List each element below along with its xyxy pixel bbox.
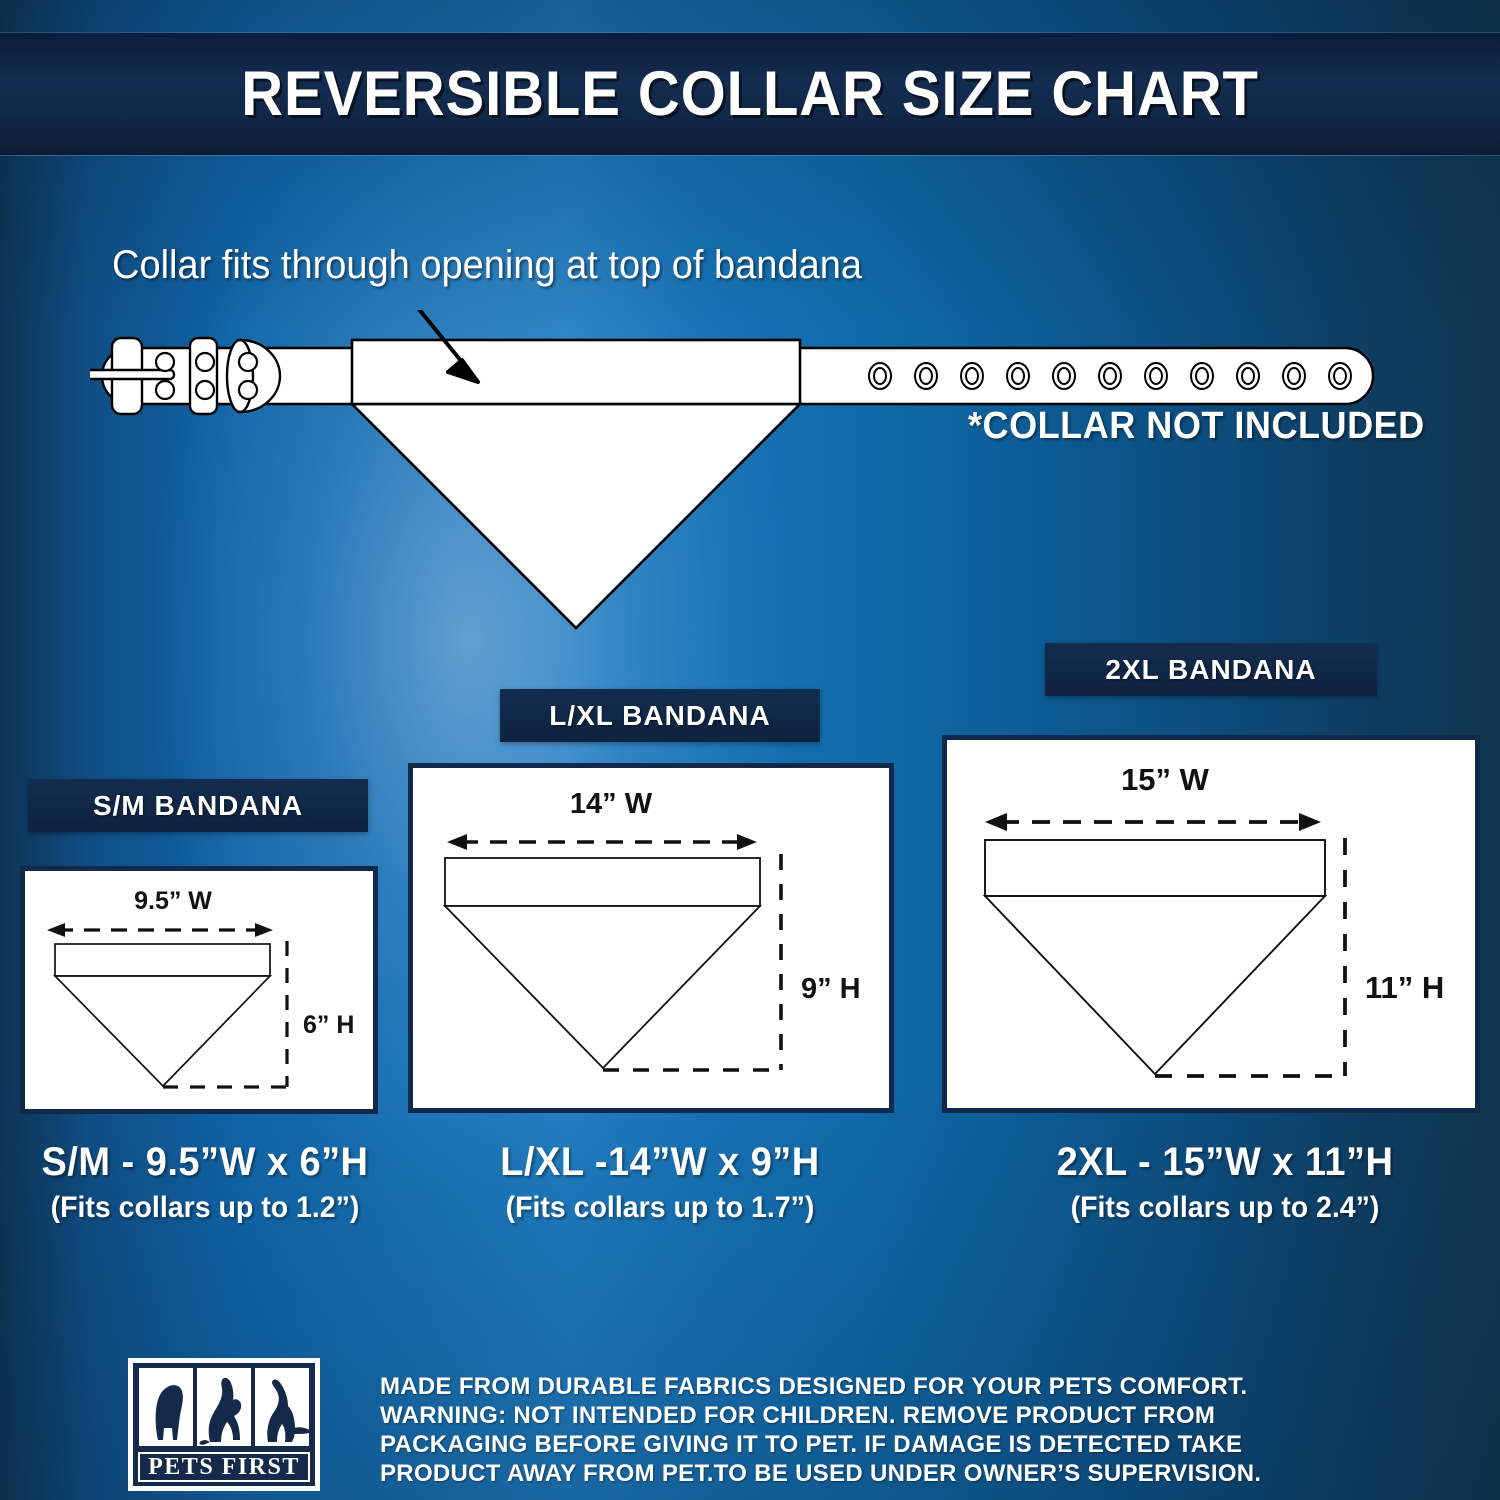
xxl-width-label: 15” W [1121,762,1210,797]
sm-triangle-icon [55,976,270,1086]
bandana-sleeve-icon [352,340,800,404]
panel-2xl-bandana: 15” W 11” H [942,735,1480,1113]
collar-hole-icon [1283,363,1305,389]
footer-line-1: MADE FROM DURABLE FABRICS DESIGNED FOR Y… [380,1372,1370,1401]
sm-sleeve-icon [55,944,270,976]
badge-sm-label: S/M BANDANA [93,790,303,822]
badge-2xl-bandana: 2XL BANDANA [1045,643,1377,696]
xxl-bandana-diagram: 15” W 11” H [947,740,1475,1108]
badge-lxl-bandana: L/XL BANDANA [500,689,820,742]
footer-line-2: WARNING: NOT INTENDED FOR CHILDREN. REMO… [380,1401,1370,1430]
sm-arrow-right-icon [255,923,273,937]
collar-hole-icon [1191,363,1213,389]
collar-hole-icon [1053,363,1075,389]
sm-width-label: 9.5” W [134,887,212,915]
lxl-sleeve-icon [445,858,760,906]
rivet-icon [196,353,214,371]
sm-height-label: 6” H [303,1011,354,1039]
collar-hole-icon [1237,363,1259,389]
caption-lxl: L/XL -14”W x 9”H (Fits collars up to 1.7… [420,1140,900,1225]
panel-sm-bandana: 9.5” W 6” H [20,866,378,1114]
keeper-loop-edge-icon [227,340,253,412]
collar-hole-icon [1329,363,1351,389]
footer-line-3: PACKAGING BEFORE GIVING IT TO PET. IF DA… [380,1430,1370,1459]
rivet-icon [156,353,174,371]
panel-lxl-bandana: 14” W 9” H [408,763,894,1113]
page-title: REVERSIBLE COLLAR SIZE CHART [241,58,1259,130]
lxl-arrow-right-icon [737,834,757,850]
rivet-icon [156,381,174,399]
lxl-height-label: 9” H [801,973,861,1005]
caption-sm-line2: (Fits collars up to 1.2”) [10,1191,400,1225]
xxl-height-label: 11” H [1365,970,1444,1005]
badge-sm-bandana: S/M BANDANA [28,779,368,832]
collar-hole-icon [1145,363,1167,389]
lxl-arrow-left-icon [447,834,467,850]
pets-first-wordmark: PETS FIRST [148,1454,300,1480]
collar-hole-icon [1099,363,1121,389]
collar-and-bandana-illustration [90,310,1420,640]
xxl-arrow-right-icon [1299,813,1321,831]
bandana-triangle-icon [352,404,800,628]
lxl-triangle-icon [445,906,760,1068]
keeper-loop-icon [190,338,217,414]
xxl-arrow-left-icon [985,813,1007,831]
rivet-icon [239,353,257,371]
collar-fit-caption: Collar fits through opening at top of ba… [112,243,862,288]
caption-sm: S/M - 9.5”W x 6”H (Fits collars up to 1.… [0,1140,410,1225]
collar-hole-icon [915,363,937,389]
xxl-triangle-icon [985,896,1325,1074]
sm-bandana-diagram: 9.5” W 6” H [25,871,373,1109]
lxl-bandana-diagram: 14” W 9” H [413,768,889,1108]
header-bar: REVERSIBLE COLLAR SIZE CHART [0,33,1500,155]
badge-2xl-label: 2XL BANDANA [1105,654,1316,686]
pets-first-logo: PETS FIRST [128,1358,320,1491]
caption-2xl-line2: (Fits collars up to 2.4”) [988,1191,1463,1225]
collar-hole-icon [869,363,891,389]
sm-arrow-left-icon [47,923,65,937]
caption-2xl: 2XL - 15”W x 11”H (Fits collars up to 2.… [975,1140,1475,1225]
collar-hole-icon [961,363,983,389]
xxl-sleeve-icon [985,840,1325,896]
collar-hole-icon [1007,363,1029,389]
lxl-width-label: 14” W [570,788,653,820]
footer-warning-text: MADE FROM DURABLE FABRICS DESIGNED FOR Y… [380,1372,1390,1488]
collar-not-included-note: *COLLAR NOT INCLUDED [968,405,1425,448]
rivet-icon [196,381,214,399]
badge-lxl-label: L/XL BANDANA [549,700,770,732]
footer-line-4: PRODUCT AWAY FROM PET.TO BE USED UNDER O… [380,1459,1370,1488]
caption-sm-line1: S/M - 9.5”W x 6”H [10,1140,400,1185]
caption-2xl-line1: 2XL - 15”W x 11”H [988,1140,1463,1185]
caption-lxl-line2: (Fits collars up to 1.7”) [432,1191,888,1225]
caption-lxl-line1: L/XL -14”W x 9”H [432,1140,888,1185]
rivet-icon [239,381,257,399]
